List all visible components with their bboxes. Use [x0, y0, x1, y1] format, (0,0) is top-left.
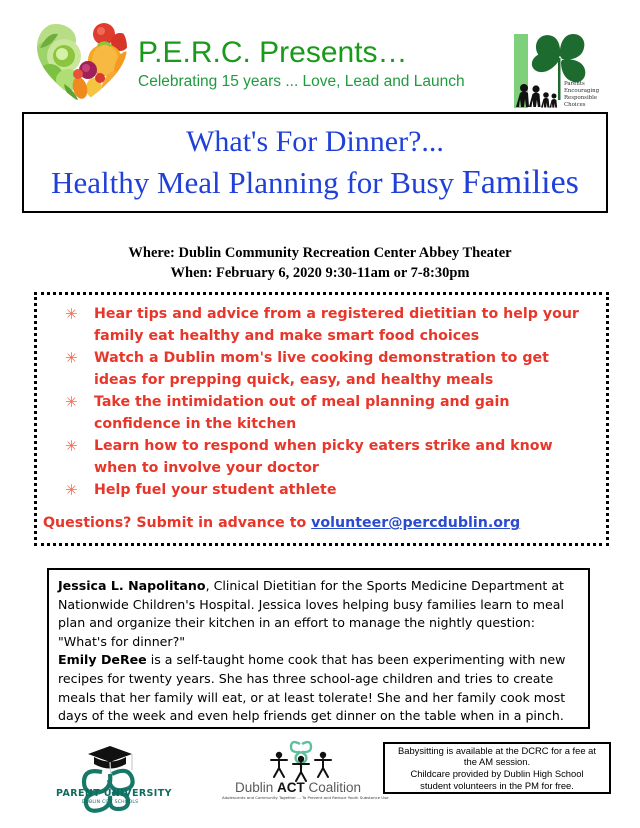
asterisk-bullet-icon: ✳	[65, 392, 78, 414]
list-item-text: Hear tips and advice from a registered d…	[94, 306, 579, 344]
dublin-act-coalition-logo-icon: Dublin ACT Coalition Adolescents and Com…	[222, 740, 374, 812]
babysitting-line: the AM session.	[464, 756, 530, 768]
babysitting-line: Childcare provided by Dublin High School	[410, 768, 583, 780]
list-item: ✳Watch a Dublin mom's live cooking demon…	[61, 348, 596, 391]
speaker-bio-jessica: Jessica L. Napolitano, Clinical Dietitia…	[58, 577, 579, 651]
list-item-text: Take the intimidation out of meal planni…	[94, 394, 509, 432]
event-title-box: What's For Dinner?... Healthy Meal Plann…	[22, 112, 608, 213]
asterisk-bullet-icon: ✳	[65, 436, 78, 458]
speaker-name-emily: Emily DeRee	[58, 652, 147, 667]
parent-university-label: PARENT UNIVERSITY	[56, 788, 164, 799]
event-title-line-2: Healthy Meal Planning for Busy Families	[51, 162, 579, 204]
speaker-bios-box: Jessica L. Napolitano, Clinical Dietitia…	[47, 568, 590, 729]
list-item: ✳Take the intimidation out of meal plann…	[61, 392, 596, 435]
parent-university-sublabel: DUBLIN CITY SCHOOLS	[56, 800, 164, 805]
venue-when-line: When: February 6, 2020 9:30-11am or 7-8:…	[0, 263, 640, 283]
vegetable-heart-icon	[34, 18, 130, 106]
page-header: P.E.R.C. Presents… Celebrating 15 years …	[0, 0, 640, 112]
event-title-line-2-families: Families	[462, 164, 579, 201]
event-title-line-1: What's For Dinner?...	[186, 122, 444, 162]
speaker-name-jessica: Jessica L. Napolitano	[58, 578, 206, 593]
questions-prefix: Questions? Submit in advance to	[43, 515, 311, 531]
venue-where-line: Where: Dublin Community Recreation Cente…	[0, 243, 640, 263]
perc-word-choices: Choices	[564, 102, 586, 108]
volunteer-email-link[interactable]: volunteer@percdublin.org	[311, 515, 520, 531]
perc-presents-heading: P.E.R.C. Presents…	[138, 36, 498, 70]
header-text-block: P.E.R.C. Presents… Celebrating 15 years …	[138, 36, 498, 91]
list-item-text: Watch a Dublin mom's live cooking demons…	[94, 350, 549, 388]
act-name-act: ACT	[277, 780, 305, 795]
parent-university-logo-icon: PARENT UNIVERSITY DUBLIN CITY SCHOOLS	[56, 742, 164, 824]
asterisk-bullet-icon: ✳	[65, 480, 78, 502]
speaker-bio-emily: Emily DeRee is a self-taught home cook t…	[58, 651, 579, 725]
asterisk-bullet-icon: ✳	[65, 304, 78, 326]
highlights-list: ✳Hear tips and advice from a registered …	[37, 295, 606, 502]
act-coalition-tagline: Adolescents and Community Together ... T…	[222, 795, 374, 800]
act-name-coalition: Coalition	[305, 780, 361, 795]
list-item: ✳Learn how to respond when picky eaters …	[61, 436, 596, 479]
perc-word-parents: Parents	[564, 81, 585, 87]
questions-line: Questions? Submit in advance to voluntee…	[43, 513, 520, 533]
babysitting-info-box: Babysitting is available at the DCRC for…	[383, 742, 611, 794]
list-item: ✳Hear tips and advice from a registered …	[61, 304, 596, 347]
asterisk-bullet-icon: ✳	[65, 348, 78, 370]
babysitting-line: student volunteers in the PM for free.	[420, 780, 574, 792]
highlights-box: ✳Hear tips and advice from a registered …	[34, 292, 609, 546]
venue-block: Where: Dublin Community Recreation Cente…	[0, 243, 640, 283]
event-title-line-2-main: Healthy Meal Planning for Busy	[51, 165, 462, 200]
perc-word-responsible: Responsible	[564, 95, 597, 101]
act-coalition-name: Dublin ACT Coalition	[222, 780, 374, 795]
list-item-text: Learn how to respond when picky eaters s…	[94, 438, 553, 476]
perc-word-encouraging: Encouraging	[564, 88, 600, 94]
shamrock-family-logo-icon: Parents Encouraging Responsible Choices	[508, 30, 612, 116]
list-item-text: Help fuel your student athlete	[94, 482, 336, 498]
babysitting-line: Babysitting is available at the DCRC for…	[398, 745, 596, 757]
list-item: ✳Help fuel your student athlete	[61, 480, 596, 502]
act-name-dublin: Dublin	[235, 780, 277, 795]
perc-tagline: Celebrating 15 years ... Love, Lead and …	[138, 73, 498, 91]
